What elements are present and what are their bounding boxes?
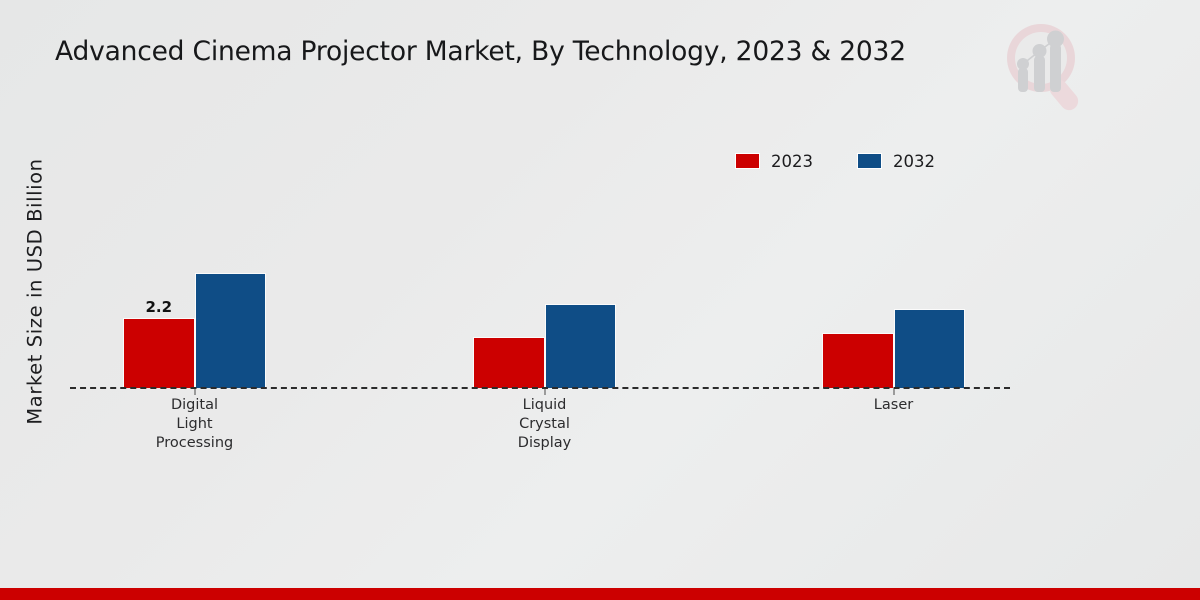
x-axis-label-dlp-line1: Digital: [156, 396, 233, 415]
bar-group-digital-light-processing: 2.2 Digital Light Processing: [123, 200, 266, 388]
x-axis-label-lcd-line2: Crystal: [518, 415, 571, 434]
bar-group-laser: Laser: [822, 200, 965, 388]
x-axis-baseline: [70, 387, 1010, 389]
page-title: Advanced Cinema Projector Market, By Tec…: [55, 36, 906, 67]
bar-lcd-2032[interactable]: [545, 304, 617, 388]
x-axis-label-lcd-line3: Display: [518, 434, 571, 453]
bar-group-liquid-crystal-display: Liquid Crystal Display: [473, 200, 616, 388]
x-axis-label-laser: Laser: [874, 396, 913, 415]
x-axis-tick-lcd: [544, 388, 545, 395]
y-axis-title: Market Size in USD Billion: [24, 152, 47, 432]
x-axis-label-laser-line1: Laser: [874, 396, 913, 415]
x-axis-label-dlp: Digital Light Processing: [156, 396, 233, 453]
bar-laser-2023[interactable]: [822, 333, 894, 388]
legend-item-2023[interactable]: 2023: [735, 152, 813, 171]
plot-area: 2.2 Digital Light Processing: [70, 200, 1010, 388]
legend-label-2032: 2032: [893, 152, 935, 171]
chart-legend: 2023 2032: [735, 148, 935, 174]
bar-dlp-2032[interactable]: [195, 273, 267, 388]
bar-wrap-lcd-2032: [545, 200, 617, 388]
x-axis-label-dlp-line3: Processing: [156, 434, 233, 453]
magnifier-bar-chart-logo-icon: [1003, 18, 1085, 114]
x-axis-tick-dlp: [194, 388, 195, 395]
bar-wrap-laser-2032: [894, 200, 966, 388]
bar-laser-2032[interactable]: [894, 309, 966, 388]
x-axis-tick-laser: [893, 388, 894, 395]
x-axis-label-lcd: Liquid Crystal Display: [518, 396, 571, 453]
legend-swatch-2023: [735, 153, 760, 169]
bar-wrap-laser-2023: [822, 200, 894, 388]
bottom-accent-band: [0, 588, 1200, 600]
bar-lcd-2023[interactable]: [473, 337, 545, 388]
bar-dlp-2023[interactable]: [123, 318, 195, 388]
legend-label-2023: 2023: [771, 152, 813, 171]
chart-canvas: Advanced Cinema Projector Market, By Tec…: [0, 0, 1200, 600]
bar-wrap-dlp-2032: [195, 200, 267, 388]
legend-swatch-2032: [857, 153, 882, 169]
bar-wrap-lcd-2023: [473, 200, 545, 388]
legend-item-2032[interactable]: 2032: [857, 152, 935, 171]
x-axis-label-lcd-line1: Liquid: [518, 396, 571, 415]
bar-wrap-dlp-2023: 2.2: [123, 200, 195, 388]
x-axis-label-dlp-line2: Light: [156, 415, 233, 434]
bar-value-dlp-2023: 2.2: [145, 298, 172, 316]
